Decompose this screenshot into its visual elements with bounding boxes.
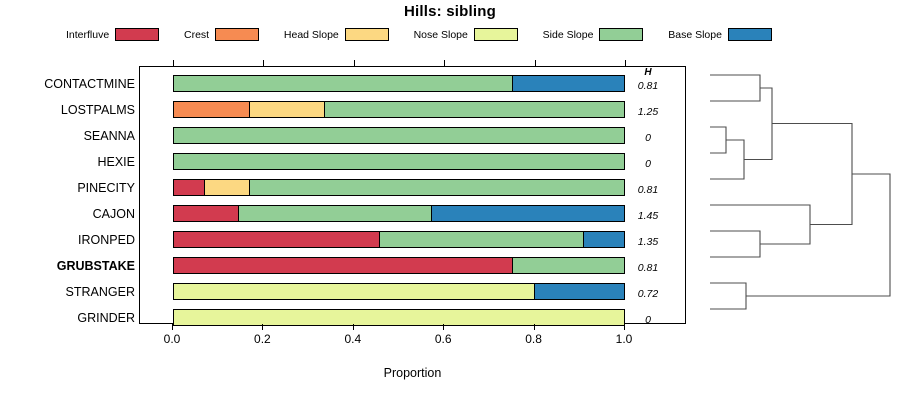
h-column: H0.811.25000.811.451.350.810.720 <box>626 66 686 324</box>
bar-segment-interfluve[interactable] <box>174 232 379 247</box>
dendro-link-root <box>746 174 890 296</box>
bar-segment-base-slope[interactable] <box>512 76 625 91</box>
h-value-hexie: 0 <box>626 158 670 170</box>
h-value-ironped: 1.35 <box>626 236 670 248</box>
bar-segment-interfluve[interactable] <box>174 206 238 221</box>
bar-segment-side-slope[interactable] <box>174 154 624 169</box>
x-axis-title: Proportion <box>139 366 686 380</box>
bar-segment-side-slope[interactable] <box>379 232 584 247</box>
x-tick-label: 0.2 <box>254 332 271 346</box>
dendrogram <box>700 60 898 330</box>
bar-ironped[interactable] <box>173 231 625 248</box>
dendro-link-stranger-grinder <box>710 283 746 309</box>
x-axis: 0.00.20.40.60.81.0 <box>139 324 686 325</box>
bar-contactmine[interactable] <box>173 75 625 92</box>
h-value-contactmine: 0.81 <box>626 80 670 92</box>
x-tick-label: 1.0 <box>616 332 633 346</box>
dendro-link-upper-cluster <box>744 88 772 160</box>
bar-segment-interfluve[interactable] <box>174 180 204 195</box>
bar-segment-side-slope[interactable] <box>238 206 431 221</box>
bar-seanna[interactable] <box>173 127 625 144</box>
bar-segment-head-slope[interactable] <box>249 102 324 117</box>
h-value-pinecity: 0.81 <box>626 184 670 196</box>
chart-root: Hills: sibling InterfluveCrestHead Slope… <box>0 0 900 400</box>
bar-segment-side-slope[interactable] <box>249 180 624 195</box>
x-tick-label: 0.0 <box>164 332 181 346</box>
h-value-cajon: 1.45 <box>626 210 670 222</box>
bar-segment-base-slope[interactable] <box>534 284 624 299</box>
x-tick <box>262 324 263 330</box>
bar-segment-nose-slope[interactable] <box>174 310 624 325</box>
h-value-lostpalms: 1.25 <box>626 106 670 118</box>
dendro-link-ironped-grubstake <box>710 231 760 257</box>
bar-cajon[interactable] <box>173 205 625 222</box>
dendro-link-seanna-hexie <box>710 127 726 153</box>
bar-lostpalms[interactable] <box>173 101 625 118</box>
x-tick <box>624 324 625 330</box>
bar-stranger[interactable] <box>173 283 625 300</box>
h-value-stranger: 0.72 <box>626 288 670 300</box>
bar-segment-side-slope[interactable] <box>174 128 624 143</box>
x-tick-label: 0.6 <box>435 332 452 346</box>
x-tick <box>443 324 444 330</box>
dendro-link-contactmine-lostpalms <box>710 75 760 101</box>
dendro-link-hills-cluster <box>772 124 852 225</box>
bar-segment-side-slope[interactable] <box>174 76 512 91</box>
x-tick <box>534 324 535 330</box>
bar-segment-crest[interactable] <box>174 102 249 117</box>
bar-segment-head-slope[interactable] <box>204 180 249 195</box>
x-tick-label: 0.4 <box>344 332 361 346</box>
bar-hexie[interactable] <box>173 153 625 170</box>
bar-segment-nose-slope[interactable] <box>174 284 534 299</box>
bar-segment-side-slope[interactable] <box>324 102 624 117</box>
dendro-link-seannahexie-pinecity <box>710 140 744 179</box>
bar-segment-interfluve[interactable] <box>174 258 512 273</box>
x-tick-label: 0.8 <box>525 332 542 346</box>
h-value-grubstake: 0.81 <box>626 262 670 274</box>
h-value-seanna: 0 <box>626 132 670 144</box>
dendrogram-svg <box>700 60 898 330</box>
bar-pinecity[interactable] <box>173 179 625 196</box>
x-tick <box>353 324 354 330</box>
bar-segment-side-slope[interactable] <box>512 258 625 273</box>
h-header: H <box>626 67 670 78</box>
bar-segment-base-slope[interactable] <box>431 206 624 221</box>
bar-segment-base-slope[interactable] <box>583 232 624 247</box>
bar-grubstake[interactable] <box>173 257 625 274</box>
x-tick <box>172 324 173 330</box>
